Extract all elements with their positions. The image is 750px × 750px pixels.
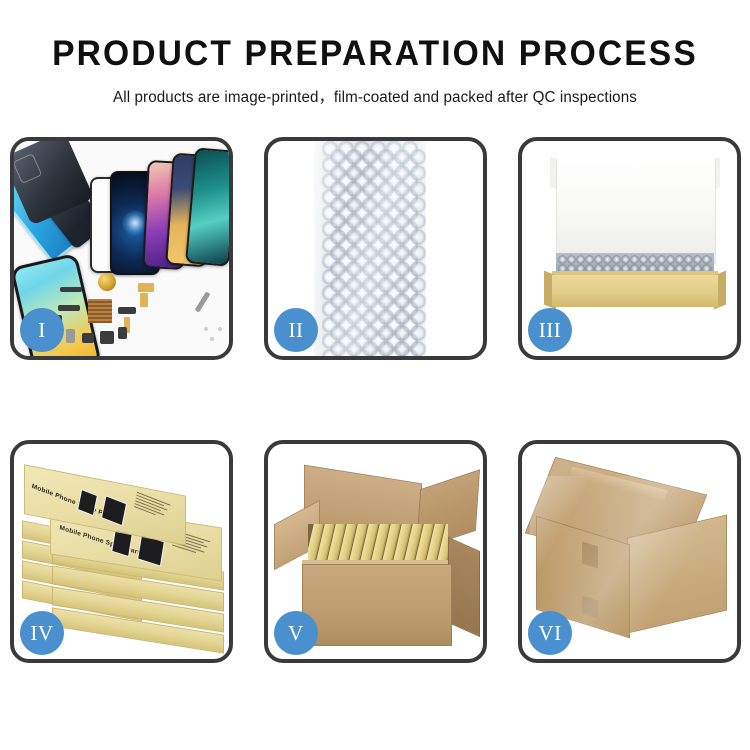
sim-tray-icon — [66, 329, 75, 343]
bubble-wrap-gloss — [314, 141, 426, 356]
page-subtitle: All products are image-printed，film-coat… — [8, 73, 743, 107]
step-panel-3[interactable]: III — [518, 137, 741, 360]
carton-handle-tab — [582, 542, 598, 569]
box-lid-white — [556, 159, 716, 265]
carton-side-panel — [448, 537, 480, 637]
flex-cable-icon — [138, 283, 154, 292]
step-panel-4[interactable]: Mobile Phone Spare Parts Mobile Phone Sp… — [10, 440, 233, 663]
button-part-icon — [118, 327, 127, 339]
vibration-motor-icon — [98, 273, 116, 291]
connector-icon — [118, 307, 136, 314]
process-steps-grid: I II III — [10, 137, 740, 663]
screw-icon — [218, 327, 222, 331]
chip-grid-icon — [88, 299, 112, 323]
page-title: PRODUCT PREPARATION PROCESS — [15, 0, 735, 73]
step-badge-6: VI — [528, 611, 572, 655]
step-panel-1[interactable]: I — [10, 137, 233, 360]
connector-strip-icon — [58, 305, 80, 311]
step-panel-2[interactable]: II — [264, 137, 487, 360]
box-screen-image — [101, 495, 127, 526]
step-badge-1: I — [20, 308, 64, 352]
step-badge-2: II — [274, 308, 318, 352]
step-panel-6[interactable]: VI — [518, 440, 741, 663]
step-panel-5[interactable]: V — [264, 440, 487, 663]
speaker-mesh-icon — [60, 287, 82, 292]
step-badge-5: V — [274, 611, 318, 655]
carton-front-panel — [302, 564, 452, 646]
earpiece-icon — [100, 331, 114, 344]
box-spec-lines — [134, 492, 175, 524]
step-badge-3: III — [528, 308, 572, 352]
screw-icon — [204, 327, 208, 331]
flex-cable-icon — [140, 293, 148, 307]
camera-module-icon — [82, 333, 94, 343]
page-header: PRODUCT PREPARATION PROCESS All products… — [0, 0, 750, 107]
box-front-panel — [552, 275, 718, 307]
step-badge-4: IV — [20, 611, 64, 655]
screw-icon — [210, 337, 214, 341]
